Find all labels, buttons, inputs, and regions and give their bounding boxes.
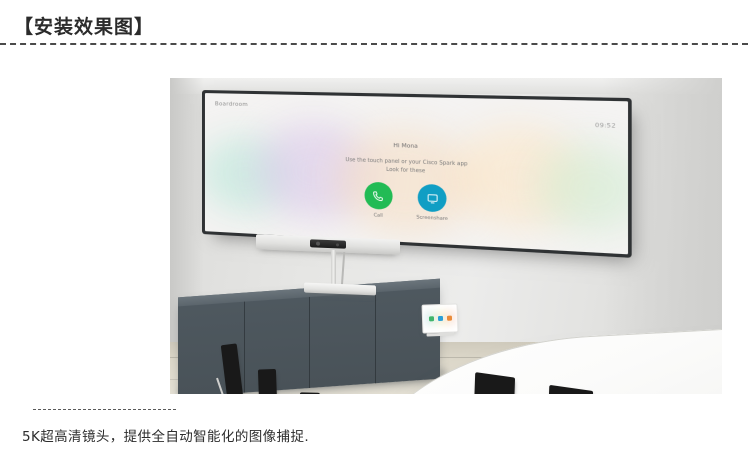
- call-action[interactable]: Call: [364, 182, 392, 220]
- touch-panel-icon: [437, 316, 442, 321]
- installation-photo: Boardroom 09:52 Hi Mona Use the touch pa…: [170, 78, 722, 394]
- chair: [469, 374, 525, 394]
- call-button[interactable]: [364, 182, 392, 210]
- chair-back: [221, 343, 244, 394]
- caption-divider: [33, 409, 176, 410]
- touch-panel-icon: [446, 316, 451, 321]
- caption-text: 5K超高清镜头，提供全自动智能化的图像捕捉.: [22, 425, 309, 445]
- room-name-label: Boardroom: [215, 101, 248, 108]
- phone-icon: [371, 189, 385, 203]
- screenshare-button[interactable]: [418, 184, 447, 213]
- chair-back: [258, 369, 278, 394]
- camera-mount-pole: [331, 250, 336, 288]
- wall-mounted-display: Boardroom 09:52 Hi Mona Use the touch pa…: [202, 90, 632, 258]
- screenshare-action[interactable]: Screenshare: [416, 184, 448, 222]
- screenshare-icon: [425, 191, 439, 205]
- chair-back: [299, 392, 320, 394]
- clock-label: 09:52: [595, 123, 616, 130]
- display-screen: Boardroom 09:52 Hi Mona Use the touch pa…: [205, 93, 628, 254]
- call-label: Call: [374, 213, 383, 219]
- chair-back: [474, 372, 515, 394]
- cabinet-door: [309, 292, 376, 388]
- touch-control-panel[interactable]: [422, 303, 459, 333]
- camera-lens-module: [310, 239, 346, 248]
- document-page: 【安装效果图】 Boardroom: [0, 0, 748, 464]
- touch-panel-screen[interactable]: [422, 303, 459, 333]
- touch-panel-icon: [428, 316, 433, 321]
- chair: [543, 387, 603, 394]
- page-title: 【安装效果图】: [14, 14, 154, 40]
- title-divider: [0, 43, 748, 45]
